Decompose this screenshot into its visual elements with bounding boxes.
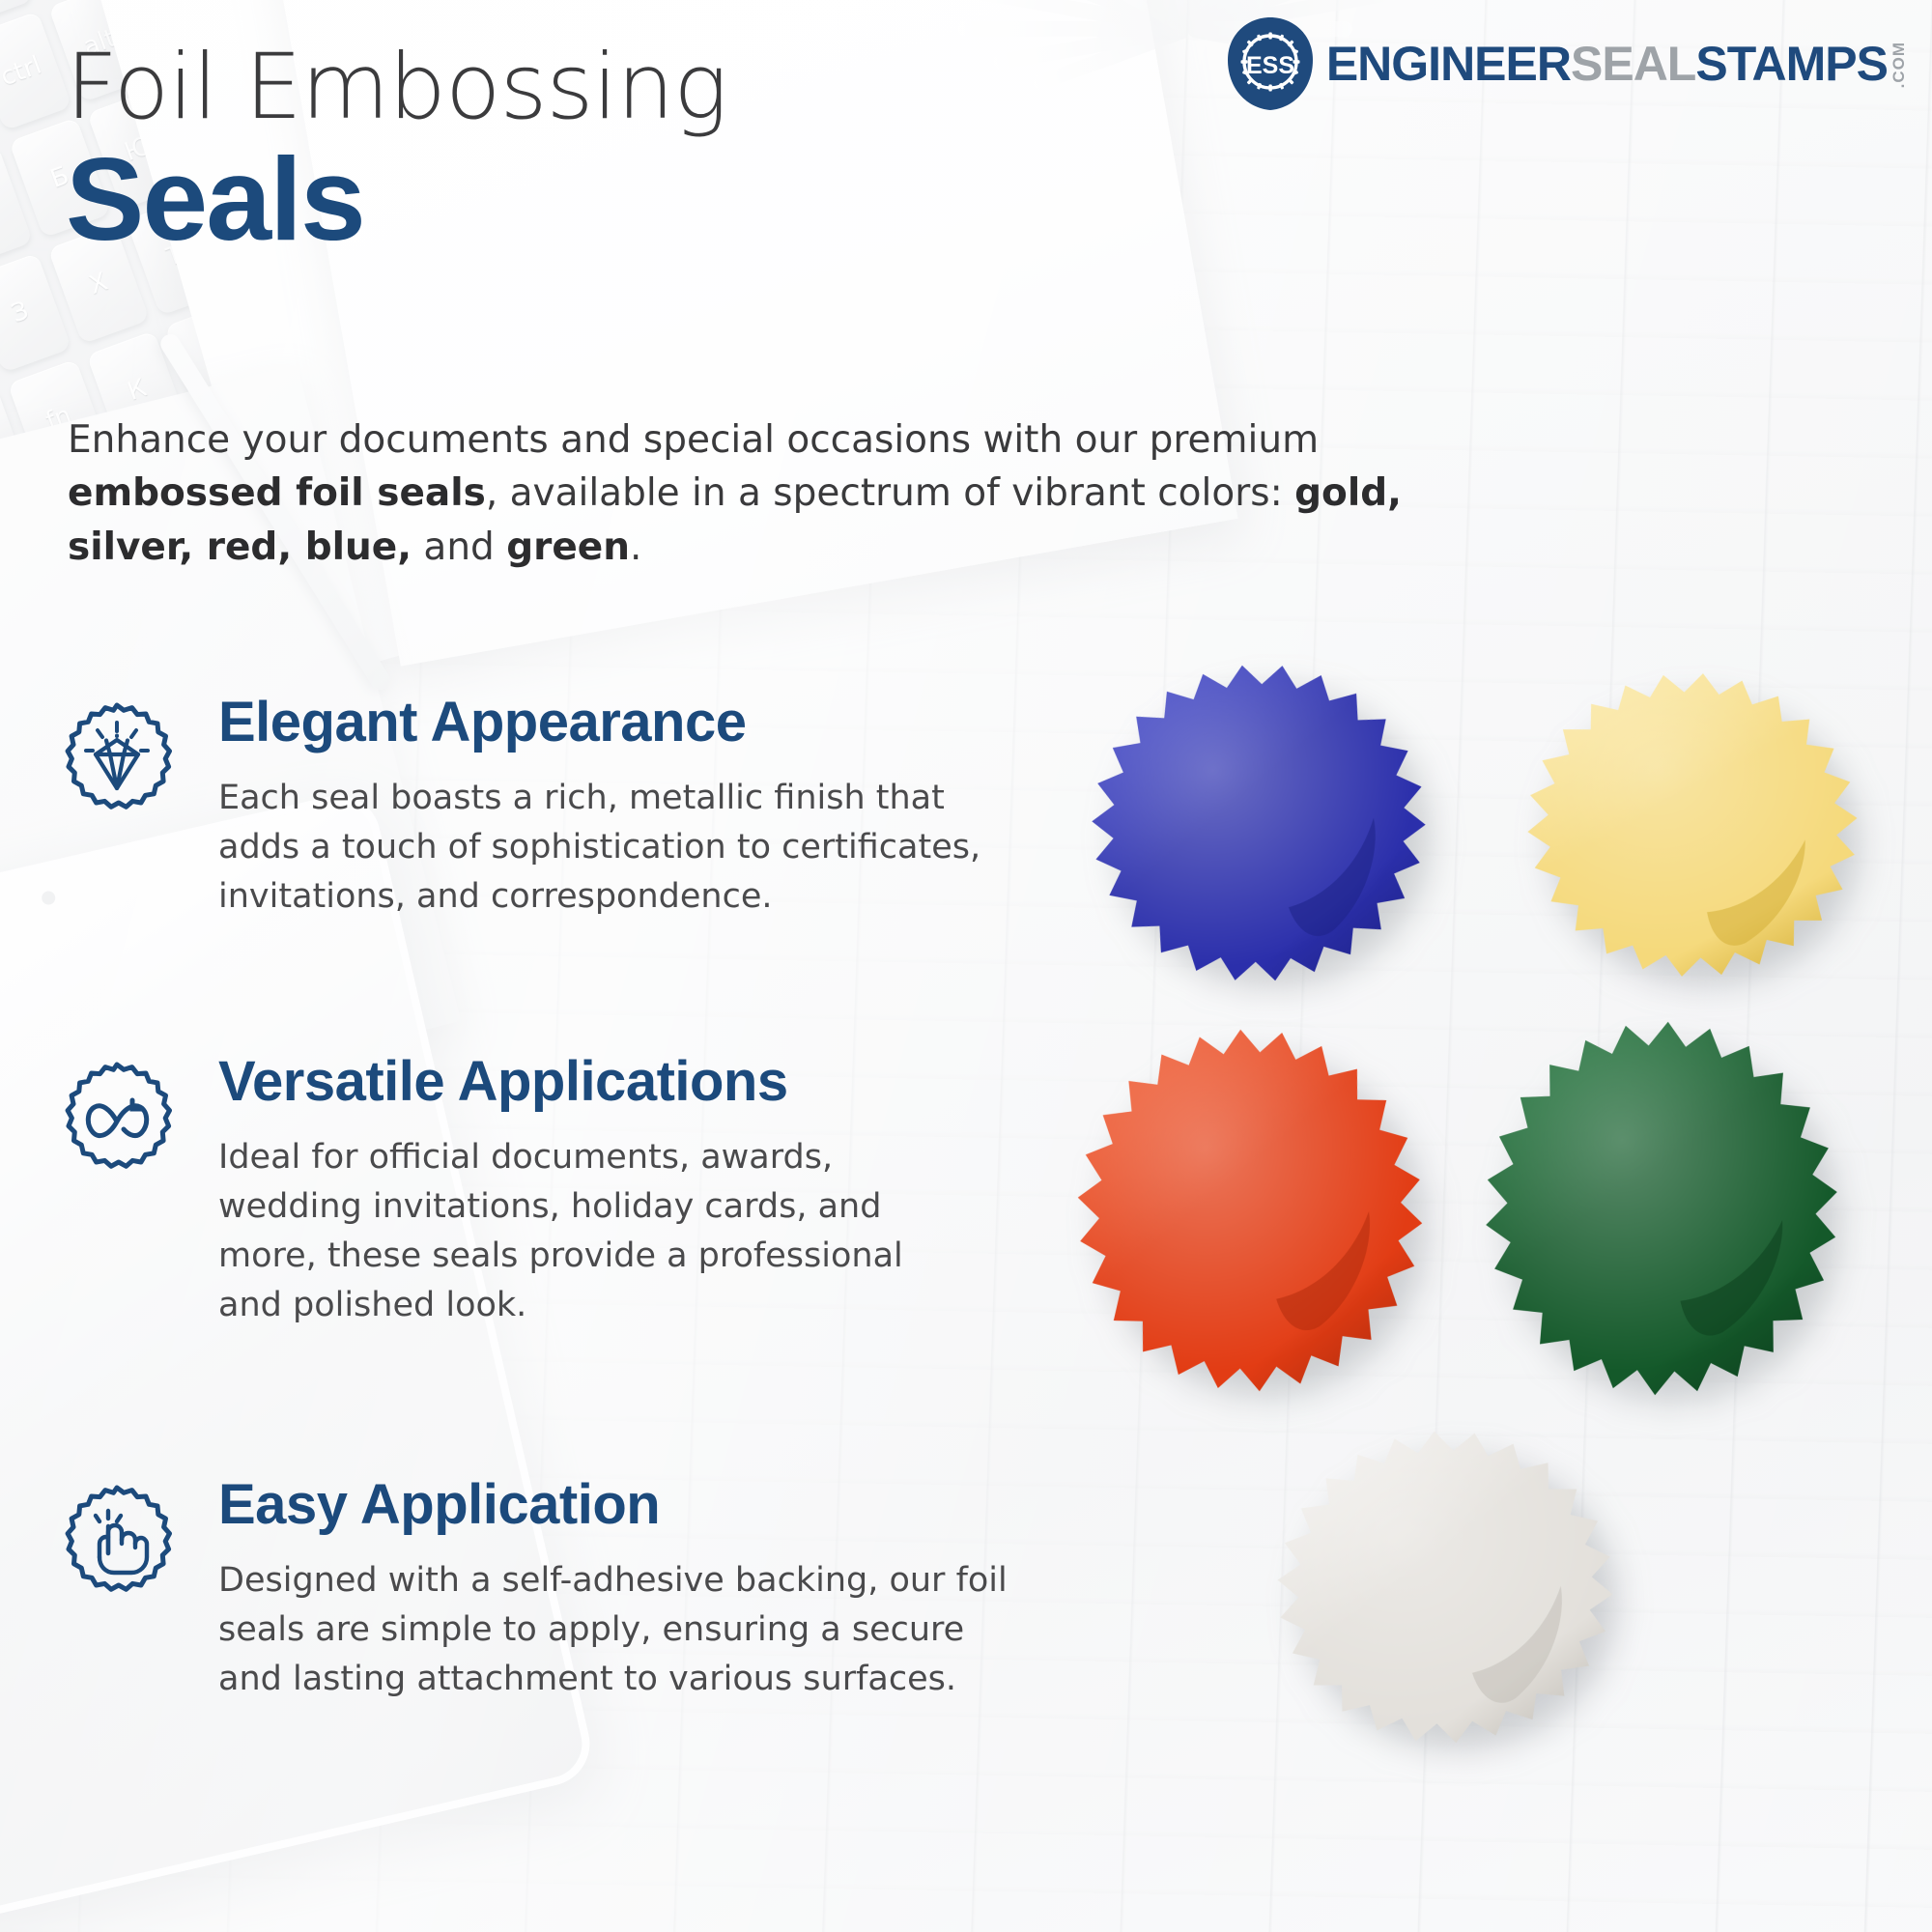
seal-shape [1053, 631, 1463, 1016]
page-title-line1: Foil Embossing [66, 41, 727, 136]
foil-seal-green [1471, 1013, 1851, 1403]
page-title-line2: Seals [66, 140, 727, 258]
feature-title: Easy Application [218, 1476, 1080, 1535]
page-title: Foil Embossing Seals [66, 41, 727, 258]
intro-part4: and [412, 526, 506, 569]
foil-seal-silver [1244, 1400, 1646, 1775]
tapping-hand-icon [56, 1484, 178, 1605]
feature-versatile-applications: Versatile Applications Ideal for officia… [56, 1053, 1080, 1330]
seal-sheen [1077, 648, 1440, 998]
logo-wordmark: ENGINEERSEALSTAMPS.COM [1326, 40, 1907, 88]
intro-bold3: green [506, 526, 630, 569]
feature-body: Easy Application Designed with a self-ad… [218, 1476, 1080, 1704]
feature-text: Each seal boasts a rich, metallic finish… [218, 774, 1080, 922]
content-layer: ESS ENGINEERSEALSTAMPS.COM Foil Embossin… [0, 0, 1932, 1932]
logo-word-seal: SEAL [1571, 40, 1695, 88]
feature-body: Versatile Applications Ideal for officia… [218, 1053, 1080, 1330]
feature-text: Designed with a self-adhesive backing, o… [218, 1556, 1080, 1704]
infographic-page: КЛДЖЭНРМЬБЮВИЙФЫАПЧСТЩЗХЪГОУЯЦЕshiftctrl… [0, 0, 1932, 1932]
foil-seal-blue [1053, 631, 1463, 1016]
seal-sheen [1519, 662, 1866, 987]
diamond-gem-icon [56, 701, 178, 823]
ess-logo-text: ESS [1246, 52, 1294, 79]
intro-part5: . [630, 526, 641, 569]
intro-paragraph: Enhance your documents and special occas… [68, 413, 1536, 574]
logo-word-stamps: STAMPS [1695, 40, 1888, 88]
foil-seal-gold [1488, 639, 1897, 1009]
feature-easy-application: Easy Application Designed with a self-ad… [56, 1476, 1080, 1704]
seal-shape [1244, 1400, 1646, 1775]
intro-part1: Enhance your documents and special occas… [68, 418, 1319, 462]
foil-seal-red [1061, 1015, 1439, 1406]
seal-shape [1061, 1015, 1439, 1406]
feature-title: Versatile Applications [218, 1053, 1080, 1112]
seal-shape [1488, 639, 1897, 1009]
intro-part3: available in a spectrum of vibrant color… [510, 471, 1295, 515]
intro-bold1: embossed foil seals [68, 471, 486, 515]
logo-word-com: .COM [1890, 42, 1907, 88]
feature-text: Ideal for official documents, awards, we… [218, 1133, 1080, 1330]
site-logo[interactable]: ESS ENGINEERSEALSTAMPS.COM [1226, 15, 1907, 112]
seal-sheen [1268, 1420, 1623, 1754]
logo-word-engineer: ENGINEER [1326, 40, 1571, 88]
infinity-loop-icon [56, 1061, 178, 1182]
seal-sheen [1480, 1015, 1842, 1401]
ess-logo-mark: ESS [1226, 15, 1315, 112]
feature-elegant-appearance: Elegant Appearance Each seal boasts a ri… [56, 694, 1080, 922]
intro-part2: , [486, 471, 497, 515]
feature-body: Elegant Appearance Each seal boasts a ri… [218, 694, 1080, 922]
seal-sheen [1069, 1020, 1431, 1400]
feature-title: Elegant Appearance [218, 694, 1080, 753]
seal-shape [1471, 1013, 1851, 1403]
